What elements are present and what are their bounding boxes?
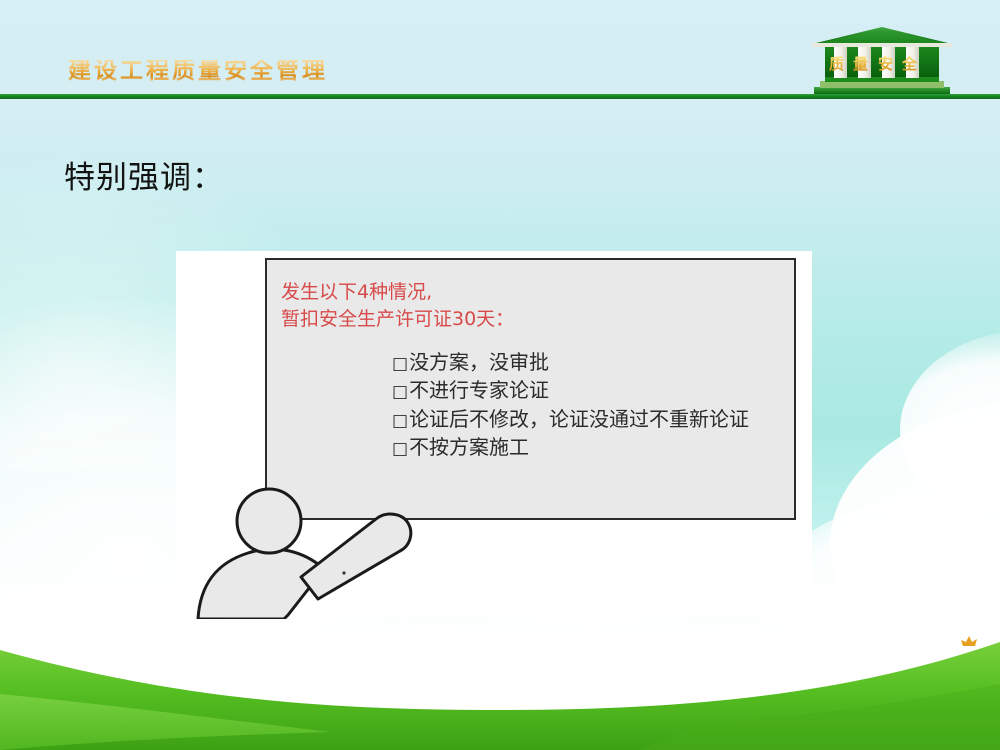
- list-item-label: 不进行专家论证: [409, 378, 549, 402]
- checkbox-icon: □: [392, 352, 408, 376]
- logo-char-3: 安: [878, 55, 893, 73]
- slide-header: 建设工程质量安全管理: [0, 0, 1000, 100]
- whiteboard-checklist: □没方案，没审批 □不进行专家论证 □论证后不修改，论证没通过不重新论证 □不按…: [392, 348, 749, 462]
- list-item: □论证后不修改，论证没通过不重新论证: [392, 405, 749, 433]
- header-title: 建设工程质量安全管理: [68, 60, 328, 83]
- content-illustration-panel: 发生以下4种情况, 暂扣安全生产许可证30天： □没方案，没审批 □不进行专家论…: [176, 251, 812, 615]
- list-item: □不进行专家论证: [392, 376, 749, 404]
- whiteboard-warning-text: 发生以下4种情况, 暂扣安全生产许可证30天：: [281, 279, 514, 333]
- logo-char-1: 质: [829, 55, 844, 73]
- grass-field: [0, 636, 1000, 750]
- list-item-label: 没方案，没审批: [409, 350, 549, 374]
- quality-safety-temple-logo: 质 量 安 全: [806, 25, 958, 97]
- warning-line-1: 发生以下4种情况,: [281, 279, 514, 306]
- slide-canvas: 建设工程质量安全管理: [0, 0, 1000, 750]
- checkbox-icon: □: [392, 409, 408, 433]
- warning-line-2: 暂扣安全生产许可证30天：: [281, 306, 514, 333]
- logo-char-2: 量: [853, 55, 868, 73]
- list-item: □没方案，没审批: [392, 348, 749, 376]
- list-item-label: 论证后不修改，论证没通过不重新论证: [409, 407, 749, 431]
- section-title: 特别强调：: [64, 152, 224, 197]
- checkbox-icon: □: [392, 380, 408, 404]
- logo-char-4: 全: [901, 55, 918, 73]
- person-pointing-silhouette: [176, 447, 476, 617]
